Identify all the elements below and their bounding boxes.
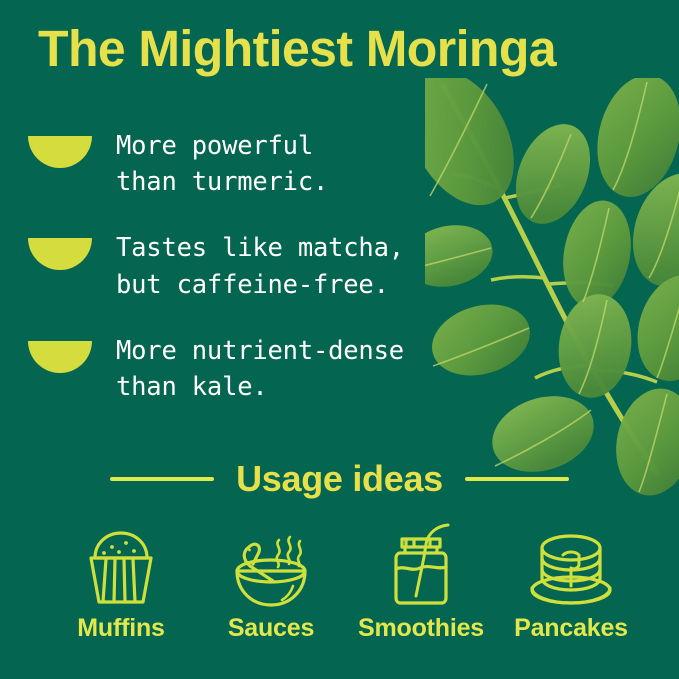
usage-label: Pancakes	[514, 614, 628, 643]
usage-item-pancakes: Pancakes	[496, 524, 646, 643]
smoothie-jar-icon	[386, 524, 456, 608]
usage-label: Sauces	[228, 614, 314, 643]
list-item: Tastes like matcha, but caffeine-free.	[28, 230, 498, 302]
half-circle-bullet-icon	[28, 136, 92, 168]
benefit-text: More powerful than turmeric.	[116, 128, 498, 200]
benefit-text: More nutrient-dense than kale.	[116, 333, 498, 405]
half-circle-bullet-icon	[28, 238, 92, 270]
rule-right	[465, 477, 569, 481]
usage-item-sauces: Sauces	[196, 524, 346, 643]
benefits-list: More powerful than turmeric. Tastes like…	[28, 128, 498, 405]
bowl-with-spoon-icon	[229, 524, 313, 608]
pancake-stack-icon	[527, 524, 615, 608]
usage-label: Smoothies	[358, 614, 484, 643]
benefit-text: Tastes like matcha, but caffeine-free.	[116, 230, 498, 302]
moringa-infographic: The Mightiest Moringa More powerful than…	[0, 0, 679, 679]
usage-ideas-heading: Usage ideas	[0, 458, 679, 500]
muffin-icon	[82, 524, 160, 608]
page-title: The Mightiest Moringa	[38, 22, 646, 76]
usage-item-muffins: Muffins	[46, 524, 196, 643]
usage-ideas-title: Usage ideas	[236, 458, 443, 500]
usage-item-smoothies: Smoothies	[346, 524, 496, 643]
usage-label: Muffins	[77, 614, 164, 643]
rule-left	[110, 477, 214, 481]
list-item: More powerful than turmeric.	[28, 128, 498, 200]
half-circle-bullet-icon	[28, 341, 92, 373]
usage-ideas-list: Muffins Sauces	[46, 524, 646, 643]
list-item: More nutrient-dense than kale.	[28, 333, 498, 405]
